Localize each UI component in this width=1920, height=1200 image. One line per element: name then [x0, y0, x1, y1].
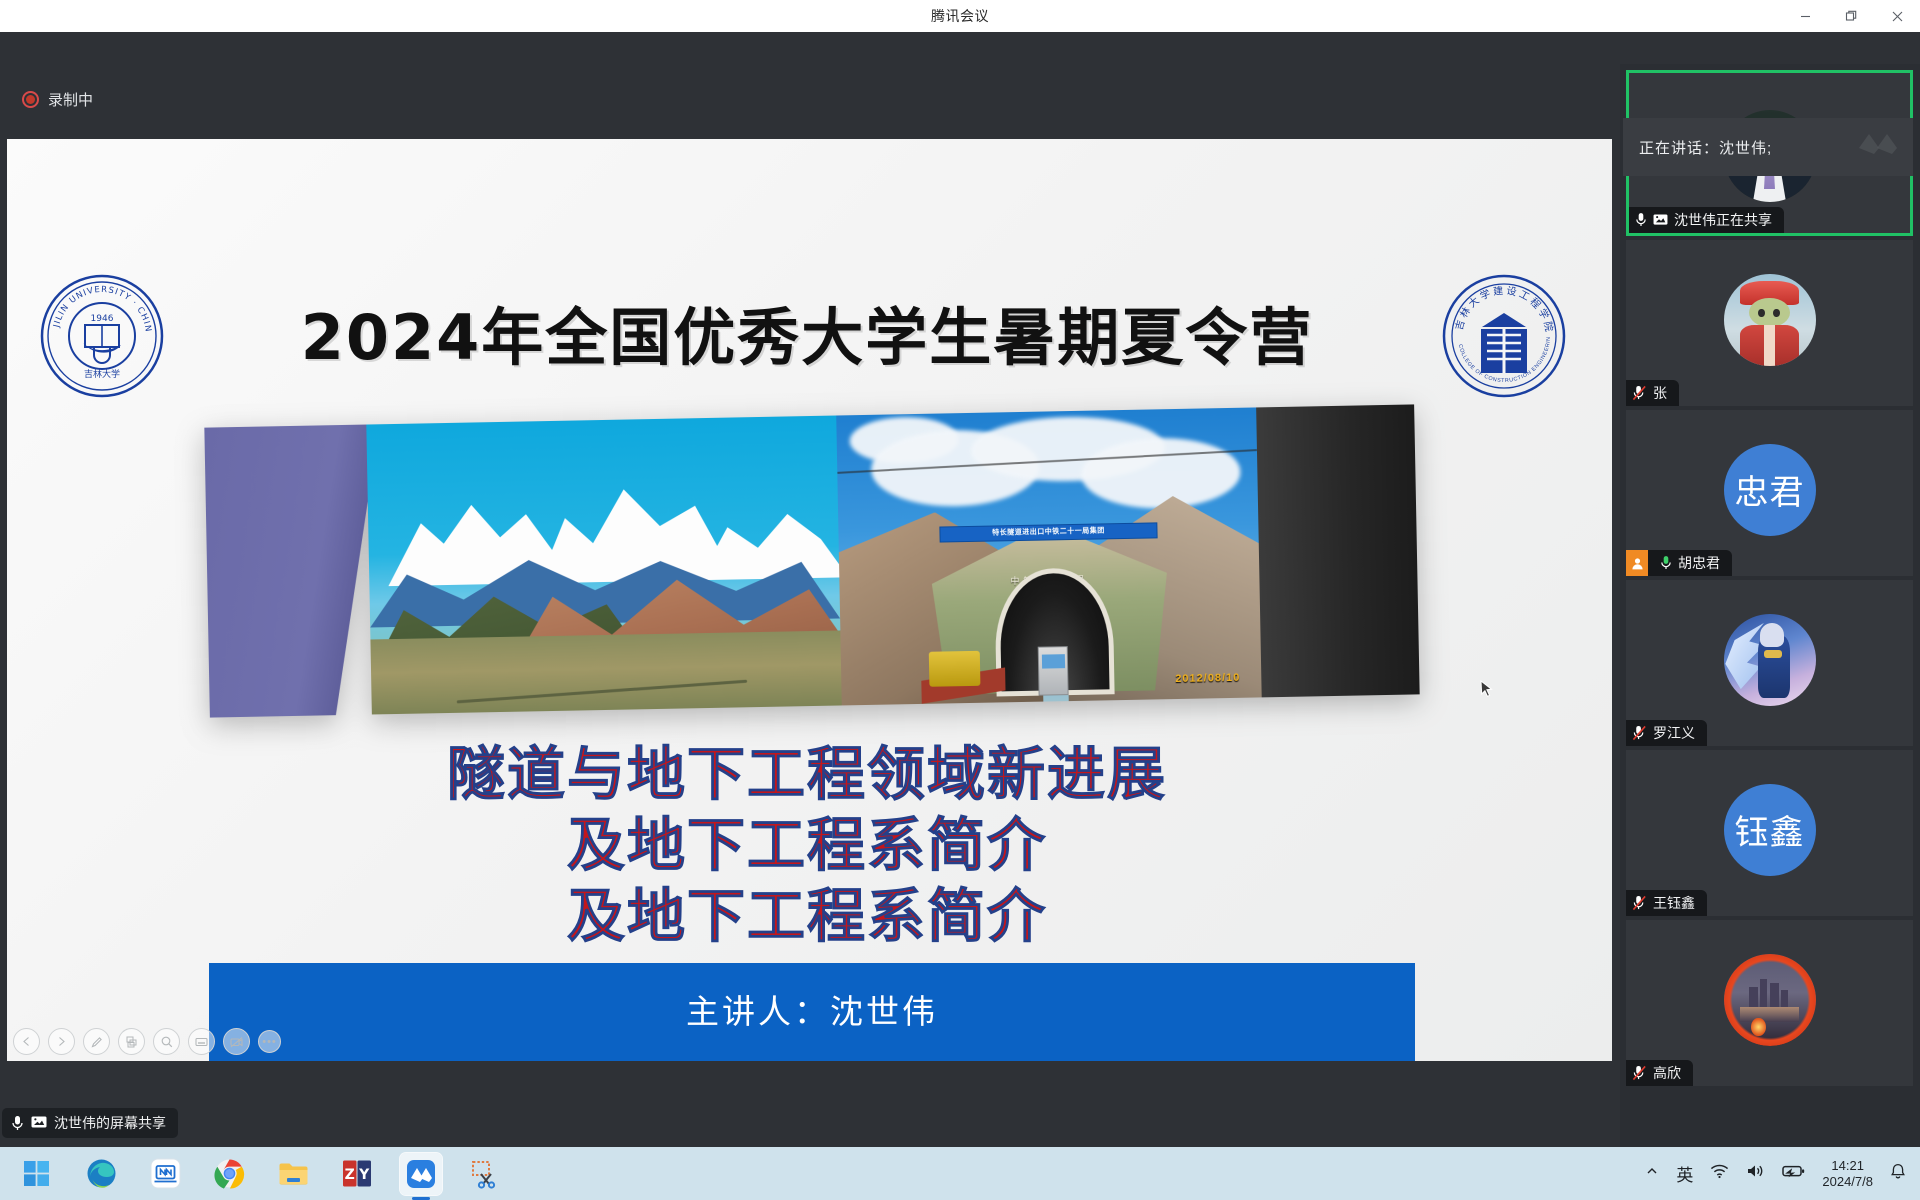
svg-text:1946: 1946: [91, 314, 114, 324]
maximize-button[interactable]: [1828, 0, 1874, 32]
clock-date: 2024/7/8: [1822, 1174, 1873, 1189]
presentation-date: 2024年7月: [736, 1059, 889, 1061]
window-title: 腾讯会议: [931, 6, 989, 26]
avatar: [1724, 954, 1816, 1046]
next-slide-button[interactable]: [48, 1028, 75, 1055]
participant-name-pill: 高欣: [1626, 1060, 1693, 1086]
photo-mountain-landscape: [366, 416, 841, 715]
slide-subtitle-group: 隧道与地下工程领域新进展 及地下工程系简介 及地下工程系简介: [257, 739, 1357, 951]
camera-off-button[interactable]: [223, 1028, 250, 1055]
participant-name: 沈世伟正在共享: [1674, 210, 1772, 230]
slide-main-title: 2024年全国优秀大学生暑期夏令营: [257, 287, 1357, 377]
slide-subtitle-line1: 隧道与地下工程领域新进展: [257, 739, 1357, 810]
volume-icon[interactable]: [1746, 1163, 1765, 1184]
wifi-icon[interactable]: [1710, 1163, 1729, 1184]
all-slides-button[interactable]: [118, 1028, 145, 1055]
svg-text:吉林大学建设工程学院: 吉林大学建设工程学院: [1453, 284, 1556, 335]
tencent-meeting-watermark-icon: [1857, 128, 1899, 160]
participant-name-pill: 罗江义: [1626, 720, 1707, 746]
close-button[interactable]: [1874, 0, 1920, 32]
tray-chevron-up-icon[interactable]: [1645, 1164, 1659, 1183]
previous-slide-button[interactable]: [13, 1028, 40, 1055]
svg-text:吉林大学: 吉林大学: [84, 368, 120, 379]
microphone-icon: [1660, 555, 1672, 571]
screen-share-icon: [31, 1116, 47, 1130]
battery-icon[interactable]: [1782, 1164, 1805, 1183]
photo-tunnel-portal: 特长隧道进出口中铁二十一局集团 中铁二十一局 2012/08/10: [836, 407, 1261, 705]
start-button[interactable]: [16, 1153, 58, 1195]
taskbar-app-list: Z Y: [16, 1153, 506, 1195]
system-tray: 英 14:21 2024/7/8: [1645, 1158, 1906, 1189]
taskbar-snipping-tool[interactable]: [464, 1153, 506, 1195]
taskbar-zy-dictionary[interactable]: Z Y: [336, 1153, 378, 1195]
taskbar-netease-app[interactable]: [144, 1153, 186, 1195]
microphone-icon: [1635, 212, 1647, 228]
participant-name-pill: 胡忠君: [1626, 550, 1732, 576]
photo-dark-panel: [1256, 404, 1420, 697]
avatar: 钰鑫: [1724, 784, 1816, 876]
screen-share-icon: [1653, 214, 1668, 227]
participant-name-pill: 沈世伟正在共享: [1629, 207, 1784, 233]
screen-share-label: 沈世伟的屏幕共享: [54, 1113, 166, 1133]
construction-college-logo-icon: 吉林大学建设工程学院 COLLEGE OF CONSTRUCTION ENGIN…: [1441, 273, 1567, 399]
taskbar-clock[interactable]: 14:21 2024/7/8: [1822, 1158, 1873, 1189]
recording-indicator: 录制中: [22, 89, 93, 110]
slide-photo-band: 特长隧道进出口中铁二十一局集团 中铁二十一局 2012/08/10: [204, 404, 1419, 717]
minimize-button[interactable]: [1782, 0, 1828, 32]
participant-tile[interactable]: 钰鑫 王钰鑫: [1626, 750, 1913, 916]
participant-name-pill: 王钰鑫: [1626, 890, 1707, 916]
svg-text:Z: Z: [345, 1167, 355, 1183]
avatar: [1724, 614, 1816, 706]
participant-name: 胡忠君: [1678, 553, 1720, 573]
avatar: [1724, 274, 1816, 366]
shared-screen[interactable]: JILIN UNIVERSITY · CHINA 1946 吉林大学 2024年…: [7, 139, 1612, 1061]
participant-name-pill: 张: [1626, 380, 1679, 406]
meeting-stage: 录制中 JILIN UNIVERSITY · CHINA 1946: [0, 32, 1920, 1147]
presentation-slide: JILIN UNIVERSITY · CHINA 1946 吉林大学 2024年…: [7, 139, 1612, 1061]
more-options-button[interactable]: •••: [258, 1030, 281, 1053]
recording-label: 录制中: [48, 89, 93, 110]
participant-tile[interactable]: 罗江义: [1626, 580, 1913, 746]
microphone-muted-icon: [1632, 1065, 1647, 1081]
subtitles-button[interactable]: [188, 1028, 215, 1055]
taskbar-tencent-meeting[interactable]: [400, 1153, 442, 1195]
slide-subtitle-reflection: 及地下工程系简介: [257, 881, 1357, 952]
participant-tile[interactable]: 张: [1626, 240, 1913, 406]
mouse-cursor-icon: [1480, 680, 1493, 699]
window-titlebar: 腾讯会议: [0, 0, 1920, 32]
microphone-muted-icon: [1632, 895, 1647, 911]
participant-name: 高欣: [1653, 1063, 1681, 1083]
photo-purple-panel: [204, 424, 385, 717]
participant-rail[interactable]: 正在讲话：沈世伟; 沈世: [1620, 64, 1920, 1179]
microphone-muted-icon: [1632, 385, 1647, 401]
ime-indicator[interactable]: 英: [1676, 1161, 1693, 1186]
clock-time: 14:21: [1822, 1158, 1873, 1173]
notification-bell-icon[interactable]: [1890, 1163, 1906, 1185]
participant-name: 罗江义: [1653, 723, 1695, 743]
screen-share-status: 沈世伟的屏幕共享: [2, 1108, 178, 1138]
taskbar-edge[interactable]: [80, 1153, 122, 1195]
participant-tile[interactable]: 忠君 胡忠君: [1626, 410, 1913, 576]
participant-name: 张: [1653, 383, 1667, 403]
participant-tile[interactable]: 高欣: [1626, 920, 1913, 1086]
participant-name: 王钰鑫: [1653, 893, 1695, 913]
taskbar-file-explorer[interactable]: [272, 1153, 314, 1195]
window-controls: [1782, 0, 1920, 32]
speaking-toast: 正在讲话：沈世伟;: [1623, 118, 1913, 176]
presenter-name: 主讲人：沈世伟: [686, 985, 938, 1033]
jilin-university-logo-icon: JILIN UNIVERSITY · CHINA 1946 吉林大学: [39, 273, 165, 399]
zoom-button[interactable]: [153, 1028, 180, 1055]
avatar: 忠君: [1724, 444, 1816, 536]
svg-text:Y: Y: [358, 1167, 370, 1183]
pen-tool-button[interactable]: [83, 1028, 110, 1055]
windows-taskbar: Z Y 英: [0, 1147, 1920, 1200]
photo-datestamp: 2012/08/10: [1175, 671, 1240, 684]
taskbar-chrome[interactable]: [208, 1153, 250, 1195]
speaking-toast-label: 正在讲话：沈世伟;: [1639, 137, 1772, 158]
slide-subtitle-line2: 及地下工程系简介: [257, 810, 1357, 881]
microphone-icon: [11, 1115, 24, 1132]
record-icon: [22, 91, 39, 108]
slideshow-toolbar: •••: [13, 1028, 281, 1055]
host-badge-icon: [1626, 550, 1648, 576]
microphone-muted-icon: [1632, 725, 1647, 741]
presenter-info-box: 主讲人：沈世伟 2024年7月: [209, 963, 1415, 1061]
